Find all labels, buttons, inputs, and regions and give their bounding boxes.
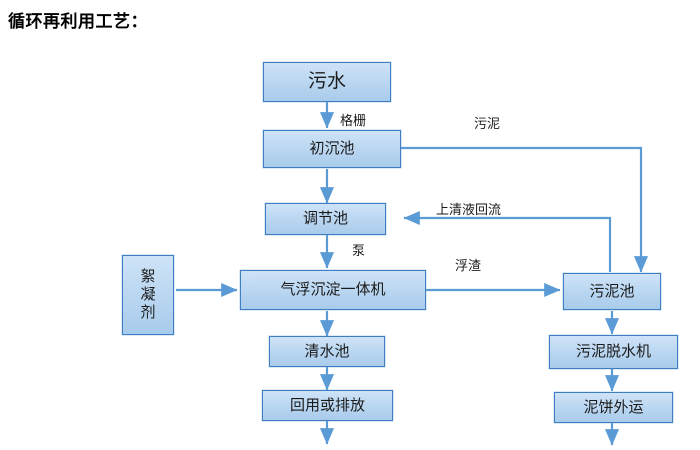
node-clean-water-tank-label: 清水池 — [304, 343, 349, 360]
page-title: 循环再利用工艺： — [8, 7, 148, 32]
edge-label-supernatant-reflux: 上清液回流 — [436, 199, 501, 218]
node-wastewater[interactable]: 污水 — [263, 62, 391, 102]
edge-label-scum: 浮渣 — [455, 255, 481, 274]
node-air-flotation-machine-label: 气浮沉淀一体机 — [280, 281, 385, 298]
node-reuse-or-discharge-label: 回用或排放 — [290, 397, 365, 414]
node-regulating-tank[interactable]: 调节池 — [265, 203, 386, 235]
edge-label-sludge: 污泥 — [474, 113, 500, 132]
edge-label-grate: 格栅 — [340, 110, 366, 129]
node-regulating-tank-label: 调节池 — [303, 210, 348, 227]
node-wastewater-label: 污水 — [308, 71, 346, 93]
node-flocculant[interactable]: 絮 凝 剂 — [122, 255, 174, 335]
node-sludge-dewatering-machine-label: 污泥脱水机 — [576, 343, 651, 360]
node-sludge-tank[interactable]: 污泥池 — [563, 273, 661, 310]
node-sludge-tank-label: 污泥池 — [589, 283, 634, 300]
node-mud-cake-transport[interactable]: 泥饼外运 — [554, 392, 673, 423]
node-flocculant-char-3: 剂 — [140, 304, 155, 322]
node-clean-water-tank[interactable]: 清水池 — [269, 336, 385, 367]
node-reuse-or-discharge[interactable]: 回用或排放 — [262, 390, 393, 421]
node-sludge-dewatering-machine[interactable]: 污泥脱水机 — [549, 335, 678, 369]
node-flocculant-char-2: 凝 — [140, 286, 155, 304]
node-primary-settling-tank[interactable]: 初沉池 — [263, 130, 401, 168]
flowchart-canvas: 循环再利用工艺： — [0, 0, 700, 450]
edge-label-pump: 泵 — [352, 240, 365, 259]
node-primary-settling-tank-label: 初沉池 — [309, 140, 354, 157]
node-mud-cake-transport-label: 泥饼外运 — [583, 399, 643, 416]
link-sludge-tank-to-regulating — [404, 218, 610, 272]
node-air-flotation-machine[interactable]: 气浮沉淀一体机 — [240, 270, 426, 310]
node-flocculant-char-1: 絮 — [140, 268, 155, 286]
